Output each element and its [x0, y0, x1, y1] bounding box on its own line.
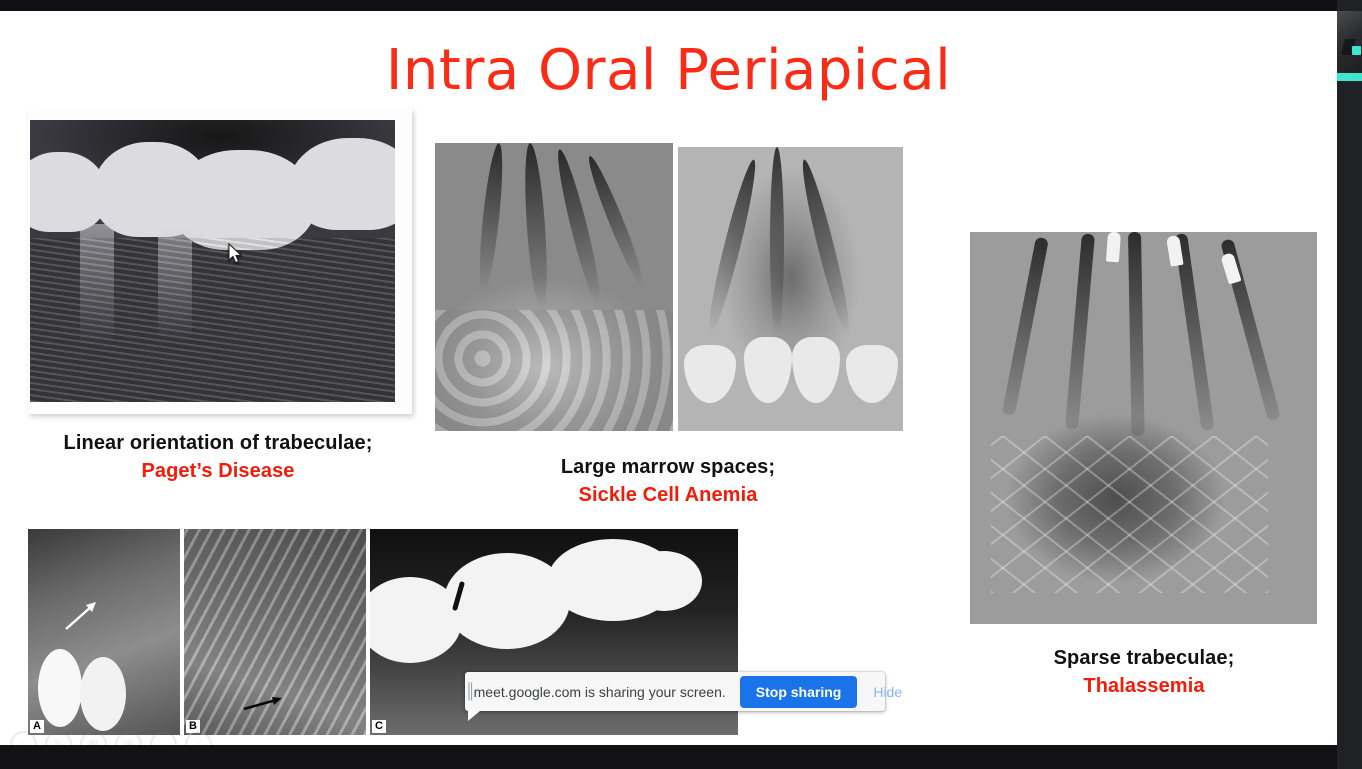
radiograph-sickle-cell-left [435, 143, 673, 431]
caption-line-primary: Linear orientation of trabeculae; [14, 430, 422, 457]
annotation-arrow-white [64, 601, 98, 636]
tooth-root [521, 143, 551, 311]
presentation-toolbar[interactable]: ‹ ✎ ▦ ⊕ … › [10, 729, 242, 745]
caption-line-diagnosis: Sickle Cell Anemia [520, 481, 816, 510]
top-letterbox-bar [0, 0, 1362, 11]
screen-capture: Intra Oral Periapical Linear orientation… [0, 0, 1362, 769]
caption-line-diagnosis: Thalassemia [1010, 672, 1278, 701]
tooth-crown [38, 649, 82, 727]
caption-line-diagnosis: Paget’s Disease [14, 457, 422, 486]
caption-sickle-cell: Large marrow spaces; Sickle Cell Anemia [520, 454, 816, 510]
pen-tool-button[interactable]: ✎ [45, 731, 72, 746]
tooth-root [1128, 232, 1145, 436]
caption-thalassemia: Sparse trabeculae; Thalassemia [1010, 645, 1278, 701]
tooth-root [702, 158, 761, 337]
caption-line-primary: Large marrow spaces; [520, 454, 816, 481]
radiograph-panel-b: B [184, 529, 366, 735]
tooth-crown [80, 657, 126, 731]
incisor-crown [684, 345, 736, 403]
restoration-radiopacity [1106, 232, 1121, 262]
radiograph-thalassemia [970, 232, 1317, 624]
slide-title: Intra Oral Periapical [0, 38, 1337, 103]
hide-notification-button[interactable]: Hide [857, 684, 918, 700]
incisor-crown [792, 337, 840, 403]
slide-overview-button[interactable]: ▦ [80, 731, 107, 746]
meeting-accent-bar [1337, 73, 1362, 81]
meeting-panel-body [1337, 81, 1362, 769]
panel-label-c: C [372, 720, 386, 733]
radiograph-paget-disease [30, 120, 395, 402]
tooth-root [1065, 233, 1095, 429]
tooth-root [796, 158, 855, 337]
next-slide-button[interactable]: › [185, 731, 212, 746]
screen-share-notification[interactable]: ║ meet.google.com is sharing your screen… [465, 672, 885, 711]
zoom-button[interactable]: ⊕ [115, 731, 142, 746]
incisor-crown [744, 337, 792, 403]
tooth-root [1002, 237, 1049, 416]
bottom-letterbox-bar [0, 745, 1362, 769]
tooth-root [475, 143, 507, 293]
share-message: meet.google.com is sharing your screen. [474, 684, 740, 700]
radiograph-panel-a: A [28, 529, 180, 735]
notification-tail [468, 711, 480, 721]
annotation-arrow-black [242, 695, 284, 718]
tooth-crown [288, 138, 395, 230]
caption-line-primary: Sparse trabeculae; [1010, 645, 1278, 672]
sparse-trabeculae-pattern [991, 436, 1269, 593]
drag-handle-icon[interactable]: ║ [465, 683, 474, 700]
incisor-crown [846, 345, 898, 403]
more-options-button[interactable]: … [150, 731, 177, 746]
stop-sharing-button[interactable]: Stop sharing [740, 676, 858, 708]
participant-video-tile[interactable] [1337, 11, 1362, 73]
previous-slide-button[interactable]: ‹ [10, 731, 37, 746]
hypercementosis-mass [626, 551, 702, 611]
tooth-root [770, 147, 784, 337]
caption-paget: Linear orientation of trabeculae; Paget’… [14, 430, 422, 486]
radiograph-sickle-cell-right [678, 147, 903, 431]
marrow-space-pattern [435, 310, 673, 431]
presentation-slide: Intra Oral Periapical Linear orientation… [0, 11, 1337, 745]
trabecular-pattern [30, 238, 395, 402]
video-accent-indicator [1352, 46, 1361, 55]
